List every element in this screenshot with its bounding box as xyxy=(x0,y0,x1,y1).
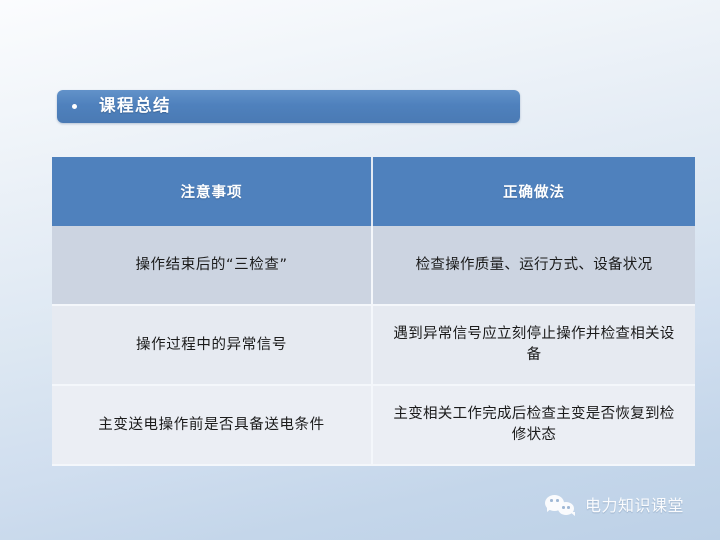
wechat-dot xyxy=(562,506,565,509)
column-header-correct-practice: 正确做法 xyxy=(372,157,695,226)
cell-precaution: 操作过程中的异常信号 xyxy=(52,305,372,385)
table-body: 操作结束后的“三检查” 检查操作质量、运行方式、设备状况 操作过程中的异常信号 … xyxy=(52,226,695,465)
table-row: 操作结束后的“三检查” 检查操作质量、运行方式、设备状况 xyxy=(52,226,695,305)
wechat-dot xyxy=(567,506,570,509)
slide-title-bar: 课程总结 xyxy=(57,90,520,123)
cell-precaution: 主变送电操作前是否具备送电条件 xyxy=(52,385,372,465)
wechat-dot xyxy=(556,499,559,502)
wechat-bubble-small-tail xyxy=(570,512,575,516)
cell-practice: 主变相关工作完成后检查主变是否恢复到检修状态 xyxy=(372,385,695,465)
cell-precaution: 操作结束后的“三检查” xyxy=(52,226,372,305)
wechat-dot xyxy=(550,499,553,502)
table-row: 操作过程中的异常信号 遇到异常信号应立刻停止操作并检查相关设备 xyxy=(52,305,695,385)
cell-practice: 遇到异常信号应立刻停止操作并检查相关设备 xyxy=(372,305,695,385)
watermark: 电力知识课堂 xyxy=(545,494,684,518)
cell-practice: 检查操作质量、运行方式、设备状况 xyxy=(372,226,695,305)
table-header: 注意事项 正确做法 xyxy=(52,157,695,226)
wechat-bubble-large-tail xyxy=(547,508,552,512)
slide-canvas: 课程总结 注意事项 正确做法 操作结束后的“三检查” 检查操作质量、运行方式、设… xyxy=(0,0,720,540)
bullet-icon xyxy=(72,104,77,109)
watermark-label: 电力知识课堂 xyxy=(585,498,684,514)
course-summary-table: 注意事项 正确做法 操作结束后的“三检查” 检查操作质量、运行方式、设备状况 操… xyxy=(52,157,695,466)
column-header-precautions: 注意事项 xyxy=(52,157,372,226)
table-row: 主变送电操作前是否具备送电条件 主变相关工作完成后检查主变是否恢复到检修状态 xyxy=(52,385,695,465)
page-title: 课程总结 xyxy=(99,98,171,115)
wechat-icon xyxy=(545,494,579,518)
table-header-row: 注意事项 正确做法 xyxy=(52,157,695,226)
